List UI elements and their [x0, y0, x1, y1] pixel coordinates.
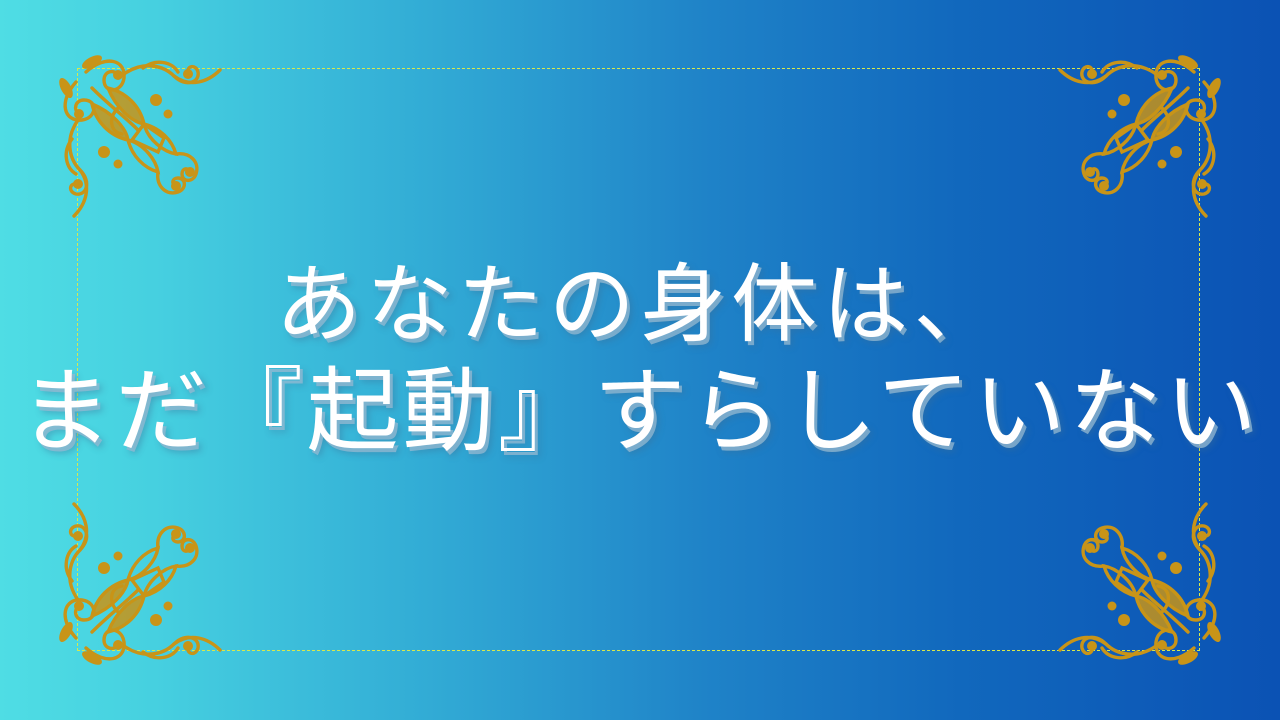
slide-canvas: あなたの身体は、 まだ『起動』すらしていない — [0, 0, 1280, 720]
headline-line-2: まだ『起動』すらしていない — [19, 360, 1260, 463]
headline-block: あなたの身体は、 まだ『起動』すらしていない — [0, 0, 1280, 720]
headline-line-1: あなたの身体は、 — [275, 257, 1004, 353]
